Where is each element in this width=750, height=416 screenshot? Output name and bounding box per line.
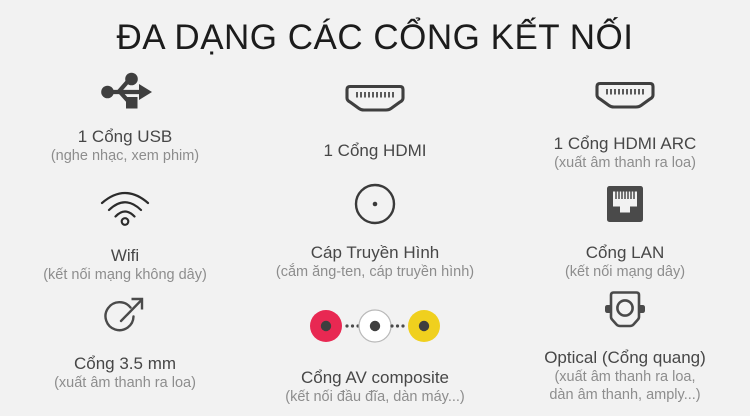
port-label: Cổng LAN <box>586 242 664 263</box>
port-sublabel: (kết nối mạng không dây) <box>43 266 207 284</box>
page-title: ĐA DẠNG CÁC CỔNG KẾT NỐI <box>0 16 750 60</box>
port-item-hdmi-arc: 1 Cổng HDMI ARC (xuất âm thanh ra loa) <box>500 66 750 179</box>
ports-grid: 1 Cổng USB (nghe nhạc, xem phim) <box>0 66 750 416</box>
port-item-lan: Cổng LAN (kết nối mạng dây) <box>500 179 750 289</box>
port-label: Cáp Truyền Hình <box>311 242 440 263</box>
port-item-usb: 1 Cổng USB (nghe nhạc, xem phim) <box>0 66 250 179</box>
port-sublabel: (kết nối đầu đĩa, dàn máy...) <box>285 388 464 406</box>
port-label: Optical (Cổng quang) <box>544 347 706 368</box>
port-item-av-composite: Cổng AV composite (kết nối đầu đĩa, dàn … <box>250 289 500 416</box>
port-item-coaxial: Cáp Truyền Hình (cắm ăng-ten, cáp truyền… <box>250 179 500 289</box>
audio-out-35mm-icon <box>103 293 147 339</box>
usb-icon <box>96 68 154 114</box>
port-label: Cổng 3.5 mm <box>74 353 176 374</box>
hdmi-arc-icon <box>593 73 657 119</box>
port-sublabel: (xuất âm thanh ra loa) <box>554 154 696 172</box>
port-sublabel: (nghe nhạc, xem phim) <box>51 147 199 165</box>
coaxial-antenna-icon <box>353 181 397 227</box>
port-sublabel: (xuất âm thanh ra loa) <box>54 374 196 392</box>
port-label: 1 Cổng USB <box>78 126 173 147</box>
port-item-optical: Optical (Cổng quang) (xuất âm thanh ra l… <box>500 289 750 416</box>
port-sublabel: (xuất âm thanh ra loa, <box>554 368 695 386</box>
port-item-audio-35mm: Cổng 3.5 mm (xuất âm thanh ra loa) <box>0 289 250 416</box>
lan-rj45-icon <box>605 181 645 227</box>
port-item-hdmi: 1 Cổng HDMI <box>250 66 500 179</box>
port-label: 1 Cổng HDMI ARC <box>554 133 697 154</box>
port-label: 1 Cổng HDMI <box>324 140 427 161</box>
port-sublabel-line2: dàn âm thanh, amply...) <box>549 386 700 404</box>
port-sublabel: (cắm ăng-ten, cáp truyền hình) <box>276 263 474 281</box>
port-sublabel: (kết nối mạng dây) <box>565 263 685 281</box>
hdmi-icon <box>343 76 407 122</box>
port-label: Wifi <box>111 245 139 266</box>
port-item-wifi: Wifi (kết nối mạng không dây) <box>0 179 250 289</box>
wifi-icon <box>99 185 151 231</box>
av-composite-icon <box>309 303 441 349</box>
infographic-page: ĐA DẠNG CÁC CỔNG KẾT NỐI 1 Cổng USB <box>0 0 750 416</box>
optical-toslink-icon <box>600 289 650 335</box>
port-label: Cổng AV composite <box>301 367 449 388</box>
